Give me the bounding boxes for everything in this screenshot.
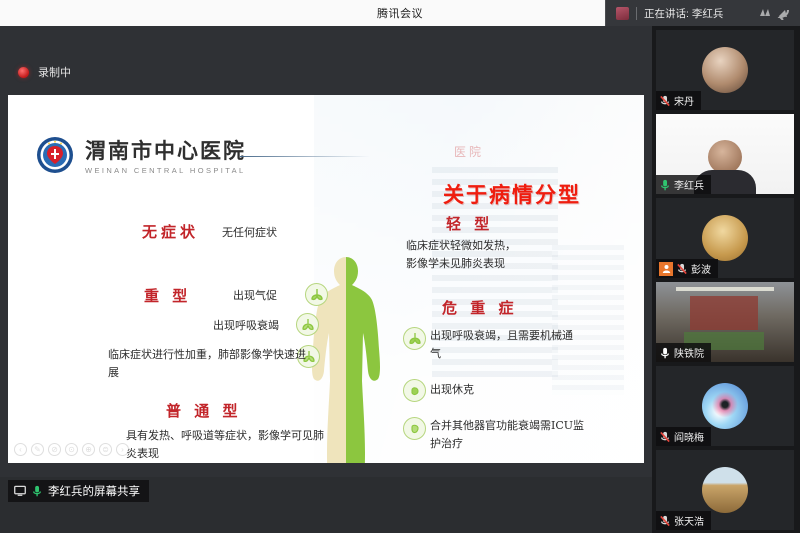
participant-tile[interactable]: 张天浩 <box>656 450 794 530</box>
participant-name: 彭波 <box>691 261 711 276</box>
room-wall-shape <box>690 296 758 330</box>
record-dot-icon <box>18 67 29 78</box>
participant-footer: 李红兵 <box>656 175 711 194</box>
participant-name: 宋丹 <box>674 93 694 108</box>
ppt-presenter-controls[interactable]: ‹ ✎ ⊘ ⊙ ⊕ ⊜ › <box>14 443 129 456</box>
screen-share-bar: 李红兵的屏幕共享 <box>0 477 652 505</box>
microphone-on-icon <box>659 347 671 359</box>
category-severe-symptom-3: 临床症状进行性加重，肺部影像学快速进展 <box>108 346 313 382</box>
video-person-shape <box>708 140 742 174</box>
avatar-flower-overlay <box>711 392 739 420</box>
hospital-branding: 渭南市中心医院 WEINAN CENTRAL HOSPITAL <box>36 135 246 175</box>
category-critical-symptom-3: 合并其他器官功能衰竭需ICU监护治疗 <box>430 417 585 453</box>
lung-icon <box>305 283 328 306</box>
ppt-pen-button[interactable]: ⊘ <box>48 443 61 456</box>
shared-screen-stage[interactable]: 录制中 医院 渭南市中 <box>0 26 652 505</box>
participant-tile[interactable]: 彭波 <box>656 198 794 278</box>
category-ordinary-desc: 具有发热、呼吸道等症状，影像学可见肺炎表现 <box>126 427 326 463</box>
category-mild-desc: 临床症状轻微如发热， 影像学未见肺炎表现 <box>406 237 591 273</box>
building-signage: 医院 <box>454 143 484 160</box>
ppt-pointer-button[interactable]: ✎ <box>31 443 44 456</box>
category-critical-symptom-2: 出现休克 <box>430 381 474 399</box>
category-asymptomatic-heading: 无症状 <box>142 221 199 242</box>
category-critical-symptom-1: 出现呼吸衰竭，且需要机械通气 <box>430 327 580 363</box>
sound-wave-icon <box>758 7 774 20</box>
microphone-muted-icon <box>659 515 671 527</box>
presentation-slide[interactable]: 医院 渭南市中心医院 WEINAN CENTRAL HOSPITAL <box>8 95 644 463</box>
participant-name: 张天浩 <box>674 513 704 528</box>
speaker-avatar-icon <box>616 7 629 20</box>
lung-icon <box>403 417 426 440</box>
category-mild-heading: 轻 型 <box>446 213 493 234</box>
category-mild-desc-line2: 影像学未见肺炎表现 <box>406 257 505 270</box>
ppt-menu-button[interactable]: ⊙ <box>65 443 78 456</box>
lung-icon <box>403 327 426 350</box>
microphone-on-icon <box>659 179 671 191</box>
ppt-options-button[interactable]: ⊜ <box>99 443 112 456</box>
screen-share-pill: 李红兵的屏幕共享 <box>8 480 149 502</box>
host-badge-icon <box>659 262 673 276</box>
hospital-name-en: WEINAN CENTRAL HOSPITAL <box>85 166 246 175</box>
hospital-shield-logo-icon <box>36 136 74 174</box>
audio-return-icon <box>777 7 791 20</box>
participant-panel[interactable]: 宋丹 李红兵 <box>652 26 800 533</box>
microphone-muted-icon <box>659 95 671 107</box>
avatar <box>702 215 748 261</box>
lung-icon <box>296 313 319 336</box>
category-severe-symptom-1: 出现气促 <box>233 287 277 305</box>
audio-status-icons[interactable] <box>758 7 791 20</box>
category-mild-desc-line1: 临床症状轻微如发热， <box>406 239 516 252</box>
category-asymptomatic-desc: 无任何症状 <box>222 224 277 242</box>
participant-tile[interactable]: 陕铁院 <box>656 282 794 362</box>
ppt-zoom-button[interactable]: ⊕ <box>82 443 95 456</box>
participant-tile[interactable]: 阎晓梅 <box>656 366 794 446</box>
participant-name: 阎晓梅 <box>674 429 704 444</box>
participant-name: 李红兵 <box>674 177 704 192</box>
active-speaker-indicator: 正在讲话: 李红兵 <box>605 0 800 26</box>
recording-label: 录制中 <box>38 64 71 80</box>
avatar <box>702 467 748 513</box>
room-ceiling-light <box>676 287 774 291</box>
microphone-on-icon <box>31 485 43 497</box>
slide-title: 关于病情分型 <box>443 179 581 209</box>
header-rule <box>240 156 370 157</box>
participant-footer: 阎晓梅 <box>656 427 711 446</box>
screen-share-label: 李红兵的屏幕共享 <box>48 483 140 499</box>
hospital-name-cn: 渭南市中心医院 <box>85 135 246 165</box>
category-ordinary-heading: 普 通 型 <box>166 400 241 421</box>
participant-tile[interactable]: 李红兵 <box>656 114 794 194</box>
participant-footer: 彭波 <box>656 259 718 278</box>
screen-share-icon <box>14 485 26 497</box>
participant-name: 陕铁院 <box>674 345 704 360</box>
participant-tile[interactable]: 宋丹 <box>656 30 794 110</box>
participant-footer: 张天浩 <box>656 511 711 530</box>
participant-footer: 宋丹 <box>656 91 701 110</box>
avatar <box>702 47 748 93</box>
lung-icon <box>403 379 426 402</box>
recording-indicator: 录制中 <box>18 64 71 80</box>
ppt-prev-button[interactable]: ‹ <box>14 443 27 456</box>
active-speaker-label: 正在讲话: 李红兵 <box>644 6 723 21</box>
app-title: 腾讯会议 <box>377 5 423 21</box>
category-severe-heading: 重 型 <box>144 285 191 306</box>
category-severe-symptom-2: 出现呼吸衰竭 <box>213 317 279 335</box>
category-critical-heading: 危 重 症 <box>442 297 517 318</box>
divider <box>636 7 637 20</box>
microphone-muted-icon <box>659 431 671 443</box>
microphone-muted-icon <box>676 263 688 275</box>
participant-footer: 陕铁院 <box>656 343 711 362</box>
ppt-next-button[interactable]: › <box>116 443 129 456</box>
